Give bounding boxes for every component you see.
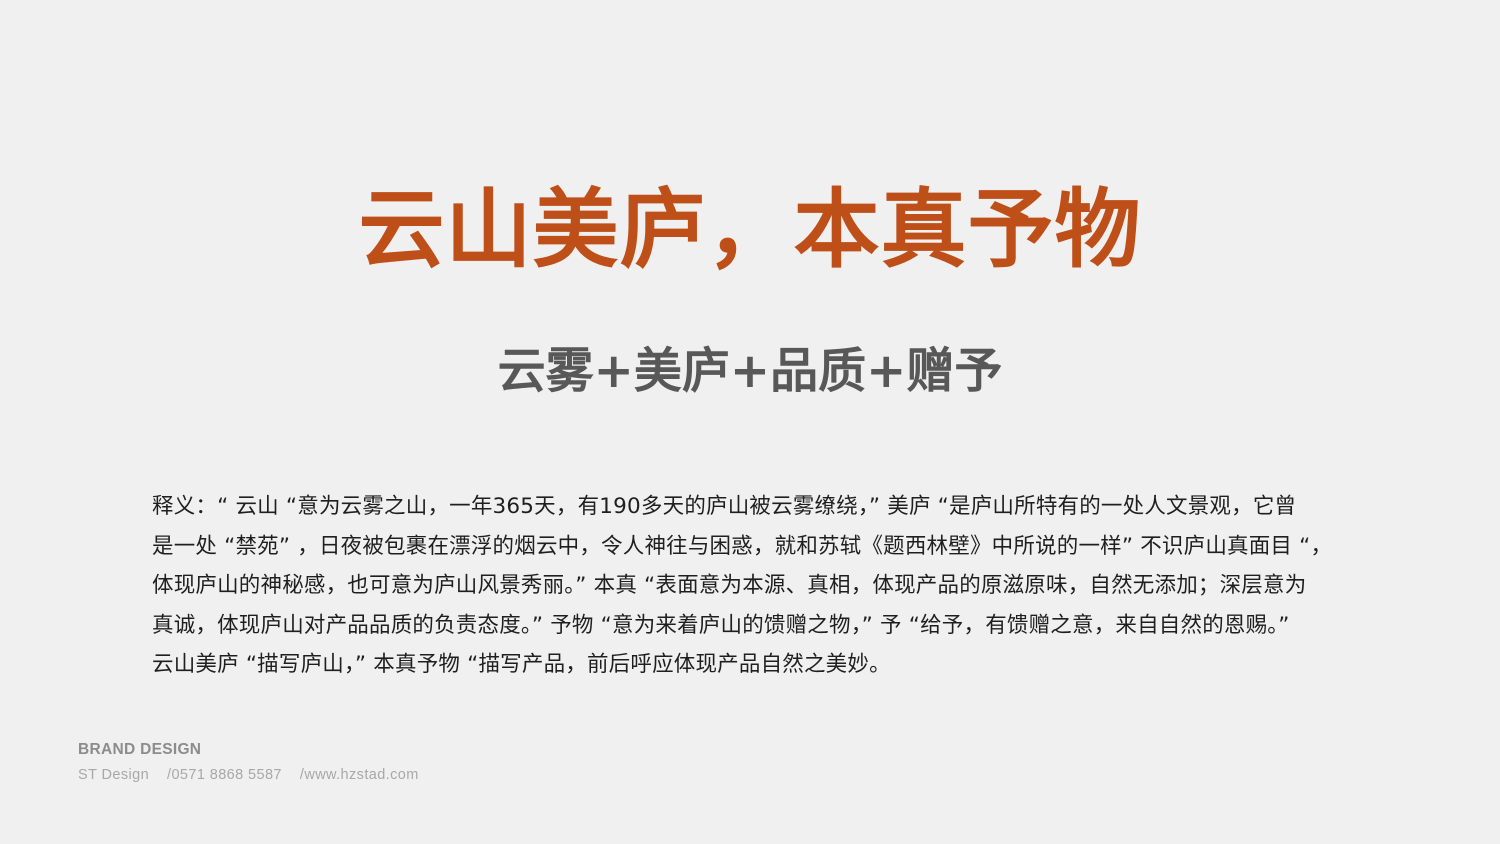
footer-brand-label: BRAND DESIGN [78, 740, 419, 760]
body-line: 释义：“ 云山 “意为云雾之山，一年365天，有190多天的庐山被云雾缭绕，” … [152, 487, 1352, 527]
slide-headline: 云山美庐，本真予物 [0, 182, 1500, 278]
footer-website[interactable]: /www.hzstad.com [300, 766, 419, 785]
slide-subheadline: 云雾+美庐+品质+赠予 [0, 342, 1500, 400]
body-line: 真诚，体现庐山对产品品质的负责态度。” 予物 “意为来着庐山的馈赠之物，” 予 … [152, 606, 1352, 646]
slide-footer: BRAND DESIGN ST Design /0571 8868 5587 /… [78, 740, 419, 785]
body-line: 云山美庐 “描写庐山，” 本真予物 “描写产品，前后呼应体现产品自然之美妙。 [152, 645, 1352, 685]
footer-phone: /0571 8868 5587 [167, 766, 282, 785]
body-line: 是一处 “禁苑” ，日夜被包裹在漂浮的烟云中，令人神往与困惑，就和苏轼《题西林壁… [152, 527, 1352, 567]
footer-contact-row: ST Design /0571 8868 5587 /www.hzstad.co… [78, 766, 419, 785]
slide-body-copy: 释义：“ 云山 “意为云雾之山，一年365天，有190多天的庐山被云雾缭绕，” … [152, 487, 1352, 685]
body-line: 体现庐山的神秘感，也可意为庐山风景秀丽。” 本真 “表面意为本源、真相，体现产品… [152, 566, 1352, 606]
footer-studio-name: ST Design [78, 766, 149, 785]
presentation-slide: 云山美庐，本真予物 云雾+美庐+品质+赠予 释义：“ 云山 “意为云雾之山，一年… [0, 0, 1500, 844]
